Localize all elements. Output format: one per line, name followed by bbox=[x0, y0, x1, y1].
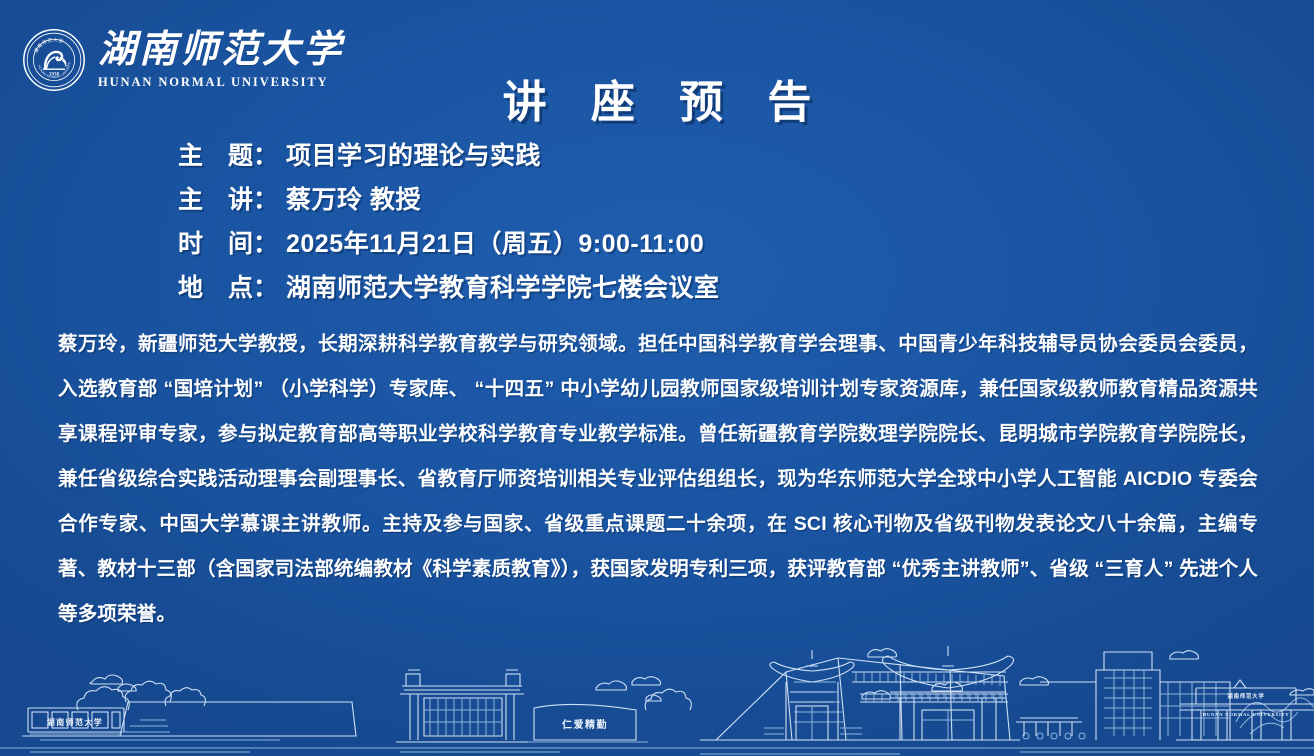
gate-sign-en: HUNAN NORMAL UNIVERSITY bbox=[1202, 712, 1289, 717]
pagoda-pavilion bbox=[882, 646, 1013, 740]
info-value-location: 湖南师范大学教育科学学院七楼会议室 bbox=[286, 268, 720, 304]
mountain-silhouette bbox=[1236, 698, 1314, 734]
multi-tier-pagoda bbox=[760, 650, 864, 740]
info-row-speaker: 主 讲： 蔡万玲 教授 bbox=[178, 180, 1158, 224]
library-building bbox=[700, 658, 1085, 740]
stone-sign-cn: 仁爱精勤 bbox=[562, 718, 608, 731]
info-label-topic: 主 题： bbox=[178, 136, 286, 172]
pagoda-tower bbox=[952, 636, 1150, 688]
info-value-time: 2025年11月21日（周五）9:00-11:00 bbox=[286, 224, 704, 260]
gate-sign-cn: 湖南师范大学 bbox=[1227, 692, 1264, 700]
memorial-gate bbox=[396, 670, 532, 742]
campus-skyline-illustration: 湖南师范大学 bbox=[0, 636, 1314, 756]
info-label-time: 时 间： bbox=[178, 224, 286, 260]
lecture-info-block: 主 题： 项目学习的理论与实践 主 讲： 蔡万玲 教授 时 间： 2025年11… bbox=[178, 136, 1158, 312]
lecture-poster: 1938 湖南师范大学 HUNAN NORMAL UNIVERSITY 湖南师范… bbox=[0, 0, 1314, 756]
info-label-location: 地 点： bbox=[178, 268, 286, 304]
info-row-topic: 主 题： 项目学习的理论与实践 bbox=[178, 136, 1158, 180]
university-name-cn: 湖南师范大学 bbox=[98, 31, 344, 69]
teaching-building bbox=[1040, 652, 1230, 740]
campus-skyline-svg: 湖南师范大学 bbox=[0, 636, 1314, 756]
poster-header: 1938 湖南师范大学 HUNAN NORMAL UNIVERSITY 湖南师范… bbox=[0, 0, 1314, 130]
speaker-bio: 蔡万玲，新疆师范大学教授，长期深耕科学教育教学与研究领域。担任中国科学教育学会理… bbox=[58, 322, 1258, 637]
university-gate: 湖南师范大学 HUNAN NORMAL UNIVERSITY bbox=[1176, 680, 1314, 740]
campus-stone-sign: 仁爱精勤 bbox=[528, 689, 691, 742]
info-value-topic: 项目学习的理论与实践 bbox=[286, 136, 541, 172]
info-row-time: 时 间： 2025年11月21日（周五）9:00-11:00 bbox=[178, 224, 1158, 268]
page-title: 讲 座 预 告 bbox=[0, 66, 1314, 130]
cloud-icon bbox=[90, 649, 1314, 701]
info-value-speaker: 蔡万玲 教授 bbox=[286, 180, 421, 216]
wall-sign-cn: 湖南师范大学 bbox=[47, 717, 103, 727]
info-row-location: 地 点： 湖南师范大学教育科学学院七楼会议室 bbox=[178, 268, 1158, 312]
info-label-speaker: 主 讲： bbox=[178, 180, 286, 216]
campus-name-wall: 湖南师范大学 bbox=[22, 681, 356, 740]
